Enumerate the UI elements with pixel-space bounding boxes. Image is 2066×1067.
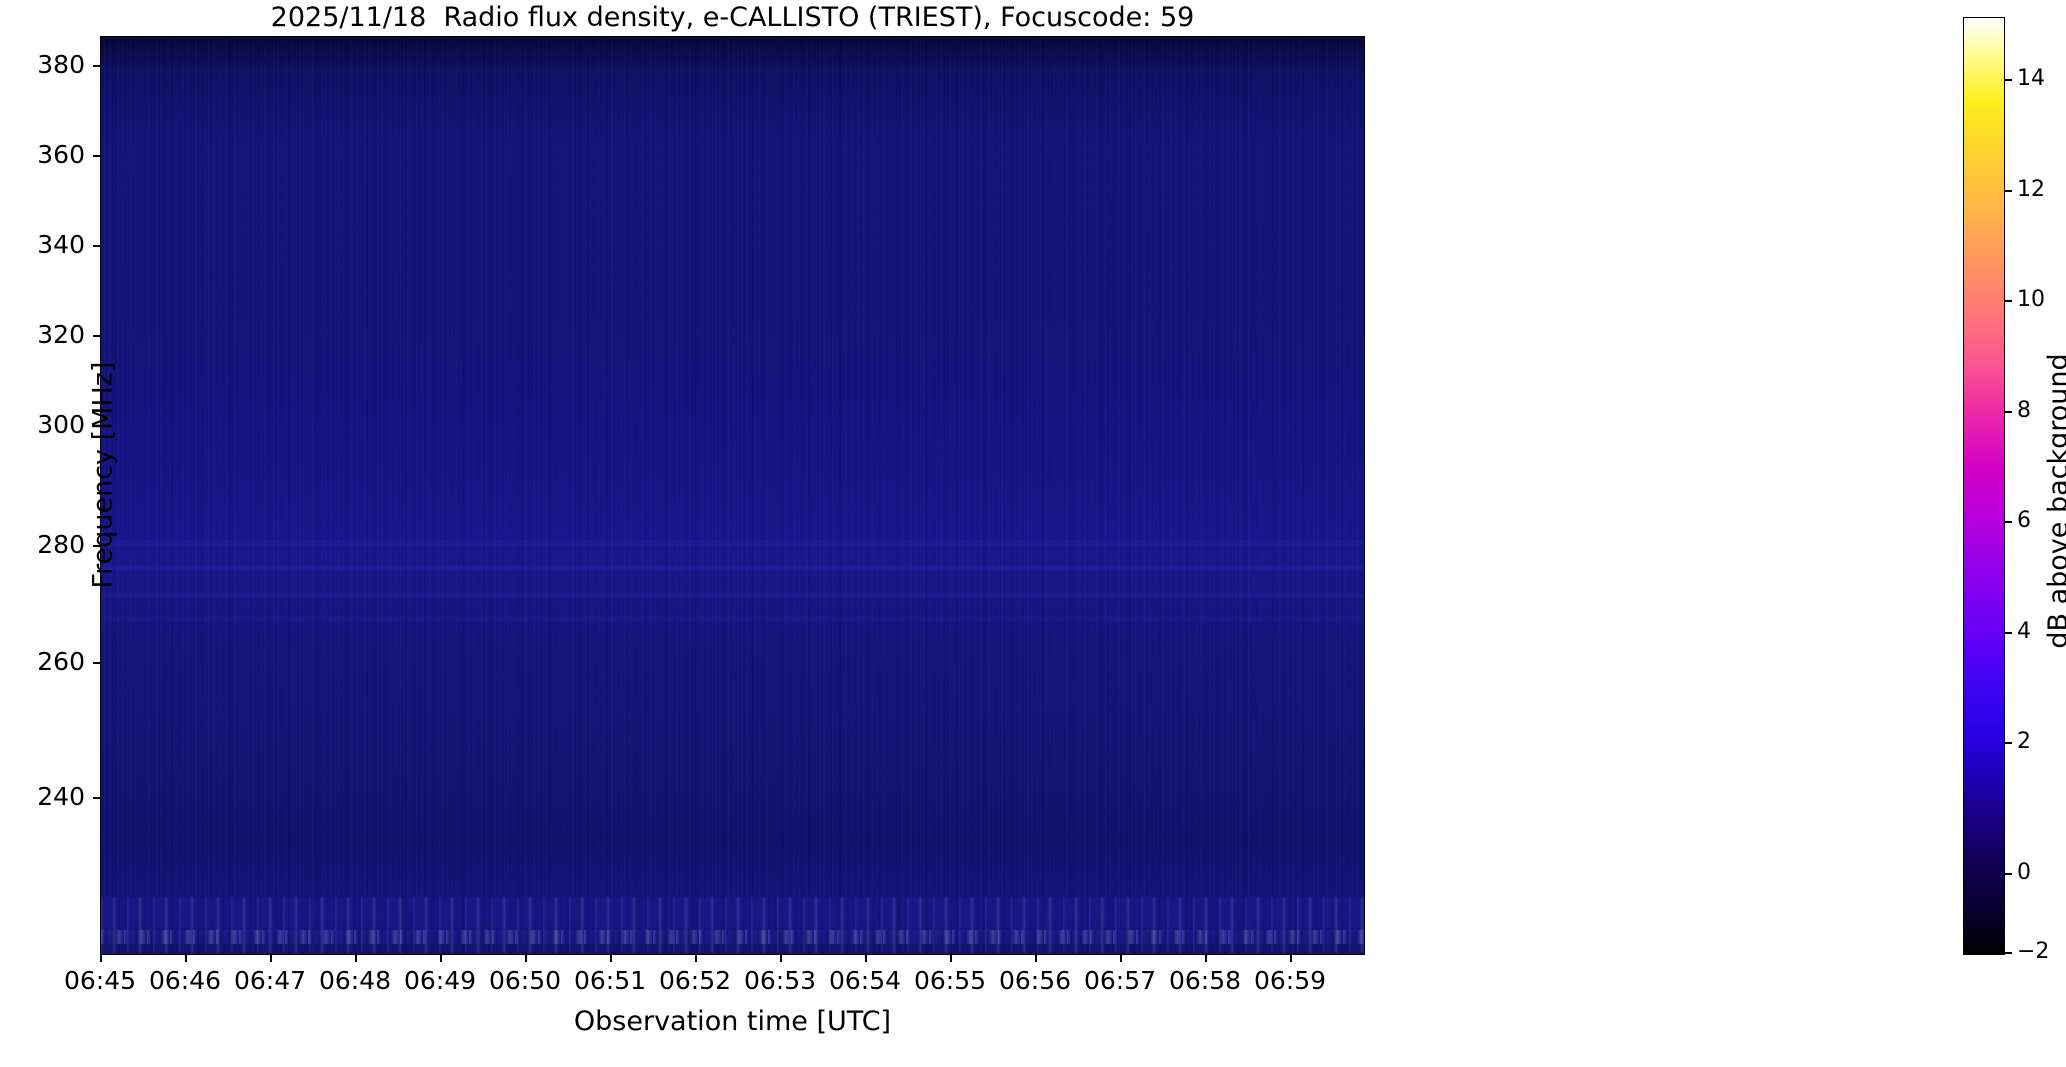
- interference-band-266mhz: [101, 617, 1364, 620]
- colorbar-tick-label-8: 8: [2017, 400, 2031, 422]
- x-tick-label-2: 06:47: [234, 967, 306, 995]
- colorbar[interactable]: [1963, 17, 2005, 955]
- spectrogram-channel-noise: [101, 37, 1364, 954]
- page-title: 2025/11/18 Radio flux density, e-CALLIST…: [100, 2, 1365, 34]
- colorbar-tick-label-2: 2: [2017, 731, 2031, 753]
- colorbar-tick-mark-12: [2005, 190, 2012, 192]
- x-axis-label: Observation time [UTC]: [100, 1006, 1365, 1038]
- x-tick-label-13: 06:58: [1169, 967, 1241, 995]
- colorbar-tick-label-10: 10: [2017, 289, 2045, 311]
- x-tick-mark-6: [610, 955, 612, 962]
- colorbar-tick-mark-2: [2005, 742, 2012, 744]
- colorbar-tick-label-14: 14: [2017, 68, 2045, 90]
- x-tick-mark-1: [185, 955, 187, 962]
- x-tick-label-11: 06:56: [999, 967, 1071, 995]
- x-tick-label-12: 06:57: [1084, 967, 1156, 995]
- x-tick-mark-12: [1120, 955, 1122, 962]
- x-tick-label-10: 06:55: [914, 967, 986, 995]
- colorbar-tick-mark-0: [2005, 873, 2012, 875]
- colorbar-tick-mark-minus2: [2005, 952, 2012, 954]
- x-tick-label-3: 06:48: [319, 967, 391, 995]
- y-tick-label-240: 240: [37, 784, 85, 809]
- x-tick-mark-9: [865, 955, 867, 962]
- rfi-speckle-band-low: [101, 897, 1364, 953]
- x-tick-label-1: 06:46: [149, 967, 221, 995]
- interference-band-280mhz: [101, 541, 1364, 545]
- colorbar-tick-label-4: 4: [2017, 621, 2031, 643]
- y-tick-label-320: 320: [37, 322, 85, 347]
- spectrogram-top-shading: [101, 37, 1364, 73]
- colorbar-tick-label-12: 12: [2017, 179, 2045, 201]
- y-axis-label: Frequency [MHz]: [89, 16, 119, 935]
- x-tick-mark-13: [1205, 955, 1207, 962]
- x-tick-label-5: 06:50: [489, 967, 561, 995]
- y-tick-label-340: 340: [37, 232, 85, 257]
- x-tick-label-14: 06:59: [1254, 967, 1326, 995]
- x-tick-mark-0: [100, 955, 102, 962]
- x-tick-mark-2: [270, 955, 272, 962]
- x-tick-mark-10: [950, 955, 952, 962]
- x-tick-mark-8: [780, 955, 782, 962]
- x-tick-label-9: 06:54: [829, 967, 901, 995]
- x-tick-mark-14: [1290, 955, 1292, 962]
- y-tick-label-280: 280: [37, 532, 85, 557]
- colorbar-label: dB above background: [2044, 251, 2066, 751]
- colorbar-tick-mark-4: [2005, 632, 2012, 634]
- rfi-speckle-line-235mhz: [101, 930, 1364, 944]
- x-tick-mark-11: [1035, 955, 1037, 962]
- y-tick-label-360: 360: [37, 142, 85, 167]
- x-tick-label-7: 06:52: [659, 967, 731, 995]
- colorbar-tick-mark-8: [2005, 411, 2012, 413]
- colorbar-tick-label-0: 0: [2017, 862, 2031, 884]
- colorbar-tick-label-6: 6: [2017, 510, 2031, 532]
- interference-band-275mhz: [101, 565, 1364, 570]
- x-tick-label-6: 06:51: [574, 967, 646, 995]
- x-tick-mark-3: [355, 955, 357, 962]
- spectrogram-plot-area[interactable]: [100, 36, 1365, 955]
- colorbar-tick-mark-10: [2005, 300, 2012, 302]
- interference-band-270mhz: [101, 593, 1364, 597]
- x-tick-label-0: 06:45: [64, 967, 136, 995]
- x-tick-label-8: 06:53: [744, 967, 816, 995]
- x-tick-label-4: 06:49: [404, 967, 476, 995]
- y-tick-label-380: 380: [37, 52, 85, 77]
- x-tick-mark-7: [695, 955, 697, 962]
- colorbar-tick-label-minus2: −2: [2017, 941, 2049, 963]
- y-tick-label-300: 300: [37, 412, 85, 437]
- colorbar-tick-mark-14: [2005, 79, 2012, 81]
- y-tick-label-260: 260: [37, 649, 85, 674]
- x-tick-mark-4: [440, 955, 442, 962]
- x-tick-mark-5: [525, 955, 527, 962]
- colorbar-tick-mark-6: [2005, 521, 2012, 523]
